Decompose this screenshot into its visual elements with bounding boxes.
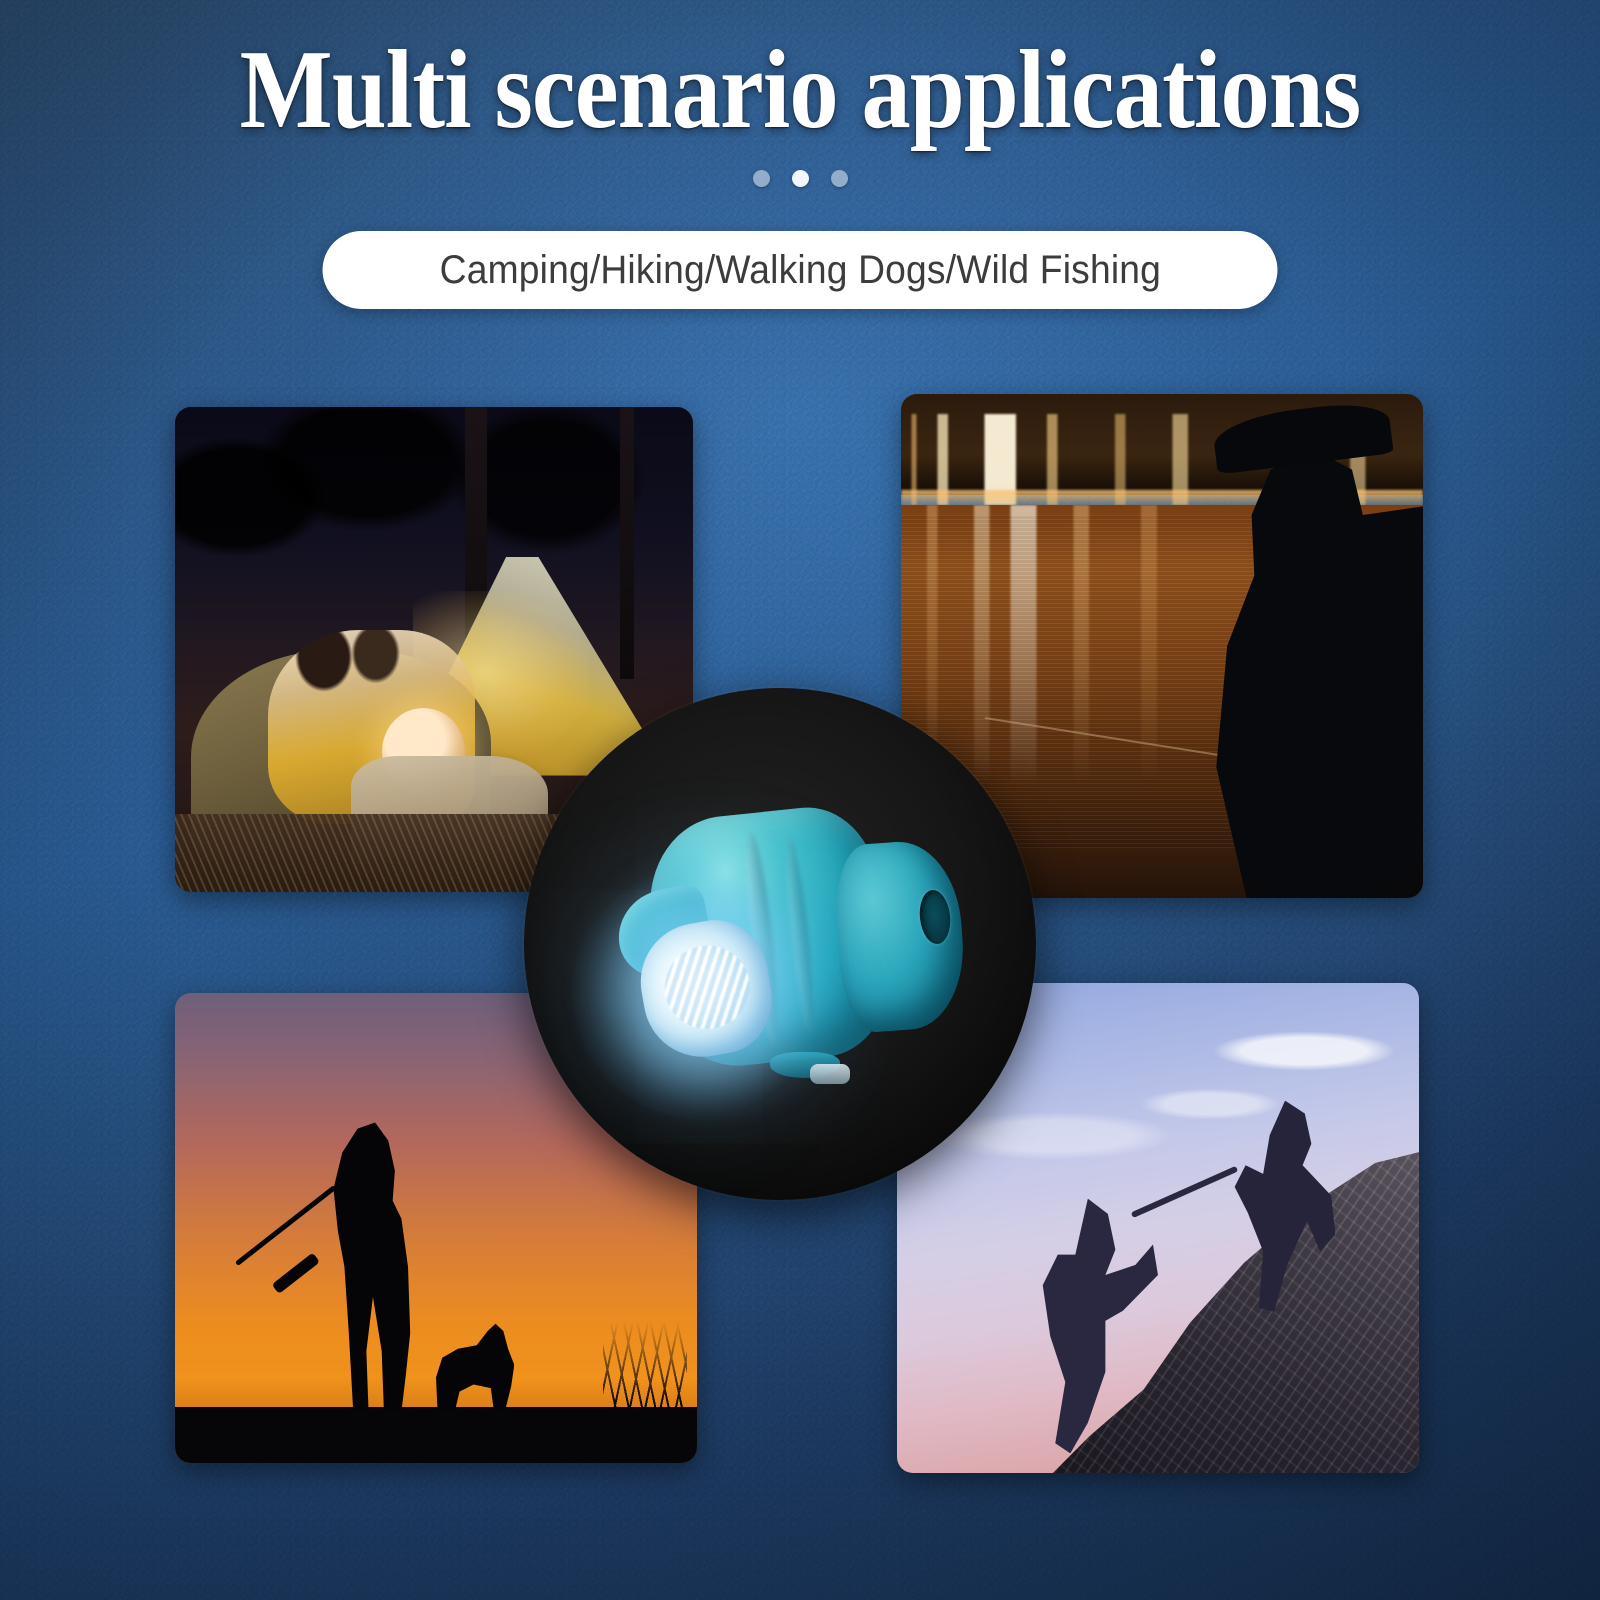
lamp-rear-section [832, 838, 969, 1034]
grass-tufts [603, 1313, 687, 1416]
promo-banner: Multi scenario applications Camping/Hiki… [0, 0, 1600, 1600]
dot-left [753, 170, 770, 187]
product-badge [524, 688, 1036, 1200]
dot-right [831, 170, 848, 187]
mounting-clip [810, 1064, 850, 1084]
subtitle-pill: Camping/Hiking/Walking Dogs/Wild Fishing [323, 231, 1278, 309]
ground-line [175, 1407, 697, 1463]
page-title: Multi scenario applications [96, 34, 1504, 146]
silicone-led-bike-light [602, 798, 962, 1098]
dot-separator [0, 170, 1600, 187]
subtitle-text: Camping/Hiking/Walking Dogs/Wild Fishing [439, 248, 1160, 293]
tree-trunk-2 [620, 407, 634, 679]
dot-center [792, 170, 809, 187]
